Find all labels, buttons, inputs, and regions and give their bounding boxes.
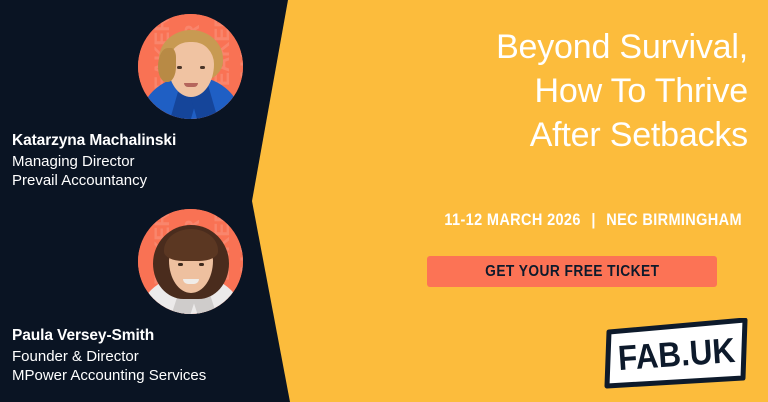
headline-line-2: How To Thrive: [368, 70, 748, 114]
promo-banner: SPEAKER SPEAKER SPEAKER SPEAKER Katarzyn…: [0, 0, 768, 402]
event-meta: 11-12 MARCH 2026 | NEC BIRMINGHAM: [444, 211, 699, 230]
cta-label: GET YOUR FREE TICKET: [485, 256, 659, 287]
speaker-role: Managing Director: [12, 152, 270, 172]
speaker-info-2: Paula Versey-Smith Founder & Director MP…: [0, 326, 270, 386]
event-meta-separator: |: [585, 211, 602, 230]
logo-text: FAB.UK: [617, 331, 737, 378]
speaker-photo-2: SPEAKER SPEAKER SPEAKER SPEAKER: [138, 209, 243, 314]
headline-line-3: After Setbacks: [368, 114, 748, 158]
fab-uk-logo[interactable]: FAB.UK: [603, 318, 751, 390]
event-dates: 11-12 MARCH 2026: [444, 211, 580, 229]
speaker-card-1: SPEAKER SPEAKER SPEAKER SPEAKER Katarzyn…: [0, 14, 270, 191]
speaker-photo-1: SPEAKER SPEAKER SPEAKER SPEAKER: [138, 14, 243, 119]
speaker-card-2: SPEAKER SPEAKER SPEAKER SPEAKER Paula Ve…: [0, 209, 270, 386]
speaker-role: Founder & Director: [12, 347, 270, 367]
speaker-info-1: Katarzyna Machalinski Managing Director …: [0, 131, 270, 191]
speaker-company: Prevail Accountancy: [12, 171, 270, 191]
headline-line-1: Beyond Survival,: [368, 26, 748, 70]
speaker-name: Paula Versey-Smith: [12, 326, 270, 346]
speaker-portrait-1: [138, 14, 243, 119]
speaker-name: Katarzyna Machalinski: [12, 131, 270, 151]
get-free-ticket-button[interactable]: GET YOUR FREE TICKET: [427, 256, 717, 287]
headline: Beyond Survival, How To Thrive After Set…: [368, 26, 748, 158]
speaker-company: MPower Accounting Services: [12, 366, 270, 386]
speaker-portrait-2: [138, 209, 243, 314]
event-venue: NEC BIRMINGHAM: [606, 211, 742, 229]
